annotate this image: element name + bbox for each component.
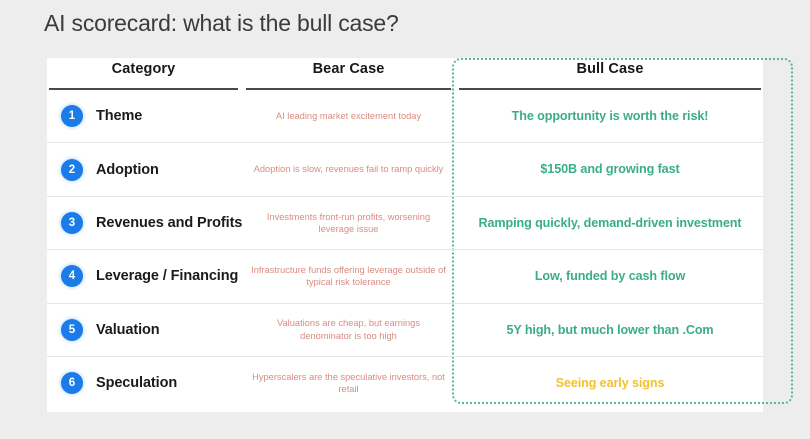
bull-case-cell: Ramping quickly, demand-driven investmen…	[457, 197, 763, 249]
category-cell: 4 Leverage / Financing	[47, 250, 240, 302]
bear-case-text: Hyperscalers are the speculative investo…	[250, 371, 447, 396]
category-cell: 5 Valuation	[47, 304, 240, 356]
table-row: 4 Leverage / Financing Infrastructure fu…	[47, 250, 763, 303]
category-label: Theme	[96, 108, 142, 124]
bull-case-cell: Low, funded by cash flow	[457, 250, 763, 302]
category-label: Valuation	[96, 322, 160, 338]
bull-case-cell: 5Y high, but much lower than .Com	[457, 304, 763, 356]
table-row: 1 Theme AI leading market excitement tod…	[47, 90, 763, 143]
row-number-badge: 6	[61, 372, 83, 394]
bull-case-text: Ramping quickly, demand-driven investmen…	[479, 215, 742, 231]
bear-case-text: Valuations are cheap, but earnings denom…	[250, 317, 447, 342]
row-number-badge: 4	[61, 265, 83, 287]
table-header-row: Category Bear Case Bull Case	[47, 58, 763, 90]
bull-case-cell: Seeing early signs	[457, 357, 763, 409]
category-cell: 3 Revenues and Profits	[47, 197, 240, 249]
bear-case-cell: Investments front-run profits, worsening…	[244, 197, 453, 249]
bear-case-text: Adoption is slow, revenues fail to ramp …	[254, 163, 444, 175]
bull-case-cell: $150B and growing fast	[457, 143, 763, 195]
category-cell: 6 Speculation	[47, 357, 240, 409]
bear-case-cell: AI leading market excitement today	[244, 90, 453, 142]
bull-case-text: $150B and growing fast	[540, 161, 679, 177]
bull-case-text: The opportunity is worth the risk!	[512, 108, 709, 124]
bear-case-text: AI leading market excitement today	[276, 110, 421, 122]
row-number-badge: 5	[61, 319, 83, 341]
column-header-bear-case: Bear Case	[244, 61, 453, 77]
table-row: 3 Revenues and Profits Investments front…	[47, 197, 763, 250]
bear-case-text: Infrastructure funds offering leverage o…	[250, 264, 447, 289]
bear-case-cell: Valuations are cheap, but earnings denom…	[244, 304, 453, 356]
table-body: 1 Theme AI leading market excitement tod…	[47, 90, 763, 409]
bull-case-cell: The opportunity is worth the risk!	[457, 90, 763, 142]
category-label: Speculation	[96, 375, 177, 391]
bear-case-text: Investments front-run profits, worsening…	[250, 211, 447, 236]
row-number-badge: 2	[61, 159, 83, 181]
category-cell: 1 Theme	[47, 90, 240, 142]
row-number-badge: 3	[61, 212, 83, 234]
category-label: Leverage / Financing	[96, 268, 238, 284]
column-header-bull-case: Bull Case	[457, 61, 763, 77]
scorecard-card: Category Bear Case Bull Case 1 Theme AI …	[47, 58, 763, 412]
table-row: 6 Speculation Hyperscalers are the specu…	[47, 357, 763, 409]
column-header-category: Category	[47, 61, 240, 77]
bear-case-cell: Hyperscalers are the speculative investo…	[244, 357, 453, 409]
bear-case-cell: Infrastructure funds offering leverage o…	[244, 250, 453, 302]
category-label: Adoption	[96, 162, 159, 178]
bull-case-text: Seeing early signs	[556, 375, 665, 391]
table-row: 2 Adoption Adoption is slow, revenues fa…	[47, 143, 763, 196]
row-number-badge: 1	[61, 105, 83, 127]
page-title: AI scorecard: what is the bull case?	[44, 10, 399, 37]
table-row: 5 Valuation Valuations are cheap, but ea…	[47, 304, 763, 357]
category-cell: 2 Adoption	[47, 143, 240, 195]
bear-case-cell: Adoption is slow, revenues fail to ramp …	[244, 143, 453, 195]
bull-case-text: 5Y high, but much lower than .Com	[506, 322, 713, 338]
category-label: Revenues and Profits	[96, 215, 242, 231]
bull-case-text: Low, funded by cash flow	[535, 268, 685, 284]
